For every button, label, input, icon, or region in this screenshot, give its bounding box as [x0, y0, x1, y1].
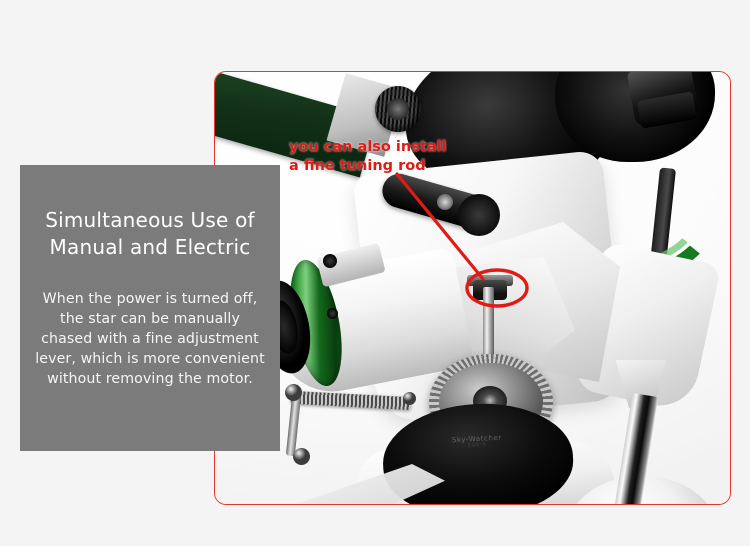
product-photo-frame: Sky-Watcher EQ6-R — [214, 71, 731, 505]
panel-body-text: When the power is turned off, the star c… — [34, 289, 266, 389]
annotation-text-line-1: you can also install — [289, 138, 447, 157]
clutch-lever-head — [458, 194, 500, 236]
annotation-text-line-2: a fine tuning rod — [289, 157, 447, 176]
panel-title-line-1: Simultaneous Use of — [45, 208, 255, 232]
fine-tuning-rod-end — [403, 392, 416, 405]
fine-tuning-rod-ball-top — [285, 384, 302, 401]
annotation-text: you can also install a fine tuning rod — [289, 138, 447, 176]
fine-tuning-rod-ball-bottom — [293, 448, 310, 465]
knob-cap — [387, 98, 409, 120]
panel-title-line-2: Manual and Electric — [34, 234, 266, 261]
clutch-screw — [437, 194, 453, 210]
bracket-screw — [323, 254, 337, 268]
panel-title: Simultaneous Use of Manual and Electric — [34, 207, 266, 261]
info-panel: Simultaneous Use of Manual and Electric … — [20, 165, 280, 451]
bracket-screw — [327, 308, 338, 319]
product-photo: Sky-Watcher EQ6-R — [215, 72, 730, 504]
